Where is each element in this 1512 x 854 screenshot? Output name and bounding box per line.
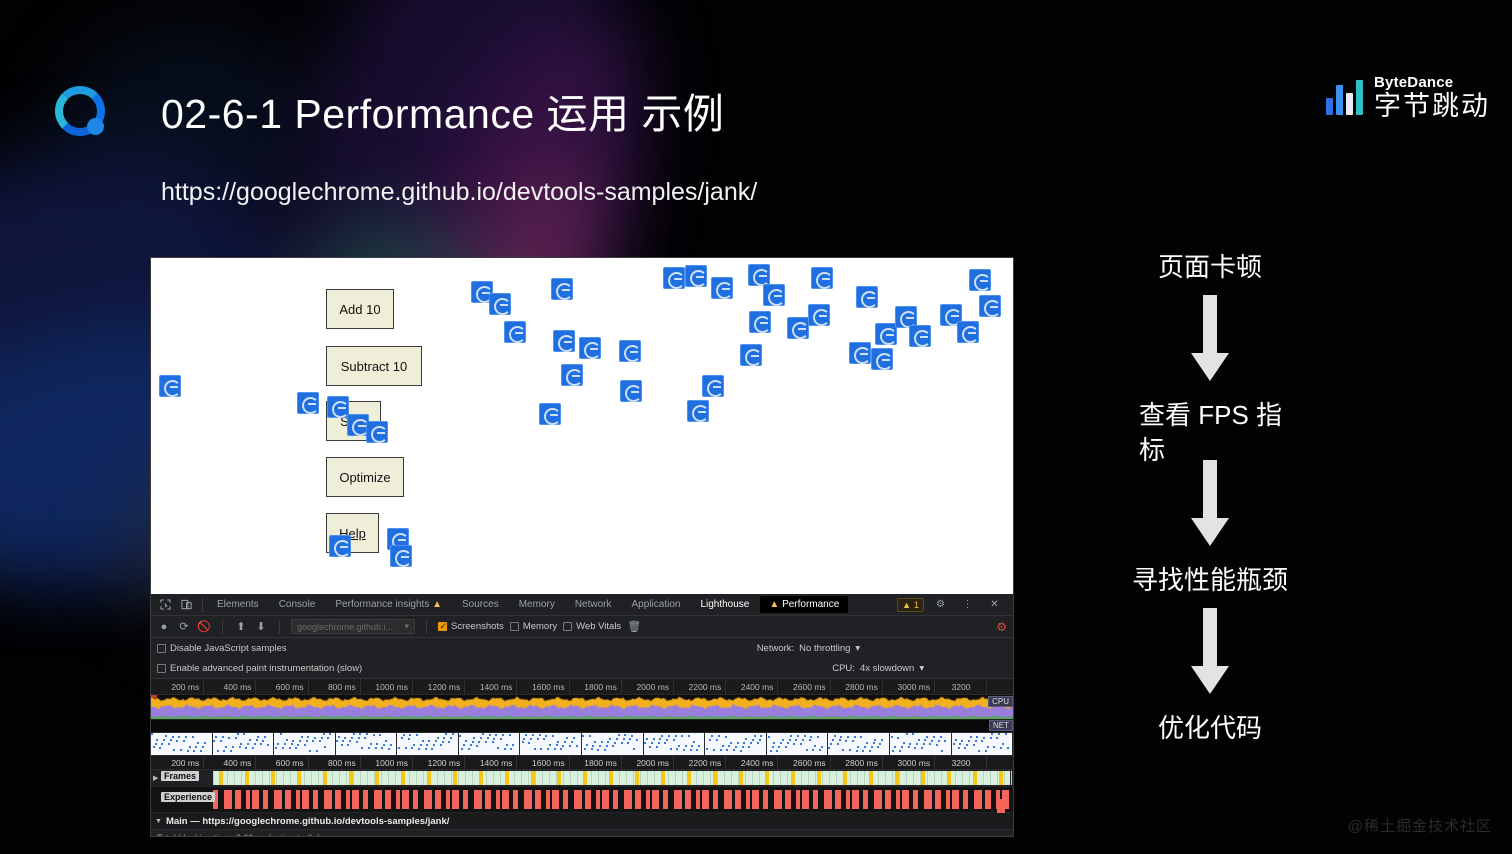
- filmstrip-frame[interactable]: [213, 733, 275, 755]
- chevron-down-icon: ▾: [919, 663, 924, 674]
- experience-bar[interactable]: [224, 790, 232, 809]
- tab-network[interactable]: Network: [566, 596, 621, 613]
- frames-track[interactable]: ▶ Frames: [151, 770, 1013, 787]
- experience-bar[interactable]: [885, 790, 891, 809]
- experience-bar[interactable]: [602, 790, 609, 809]
- experience-bar[interactable]: [696, 790, 700, 809]
- experience-bar[interactable]: [624, 790, 632, 809]
- chrome-square-icon: [366, 421, 388, 443]
- chrome-square-icon: [297, 392, 319, 414]
- experience-bar[interactable]: [674, 790, 682, 809]
- experience-bar[interactable]: [763, 790, 768, 809]
- trash-icon[interactable]: 🗑: [627, 620, 641, 633]
- chrome-square-icon: [579, 337, 601, 359]
- experience-bar[interactable]: [496, 790, 500, 809]
- flow-node-1: 页面卡顿: [1100, 250, 1320, 285]
- experience-bar[interactable]: [652, 790, 659, 809]
- chrome-square-icon: [979, 295, 1001, 317]
- tab-performance-insights[interactable]: Performance insights ▲: [326, 596, 451, 613]
- time-tick-label: 2800 ms: [845, 758, 878, 768]
- experience-bar[interactable]: [352, 790, 359, 809]
- performance-toolbar: ● ⟳ 🚫 ⬆ ⬇ googlechrome.github.i... ▾ Scr…: [151, 616, 1013, 638]
- experience-bar[interactable]: [802, 790, 809, 809]
- record-icon[interactable]: ●: [157, 621, 171, 633]
- experience-bar[interactable]: [296, 790, 300, 809]
- experience-bar[interactable]: [635, 790, 641, 809]
- filmstrip-frame[interactable]: [520, 733, 582, 755]
- experience-bar[interactable]: [463, 790, 468, 809]
- tab-label: Network: [575, 599, 612, 610]
- experience-bar[interactable]: [724, 790, 732, 809]
- chrome-square-icon: [969, 269, 991, 291]
- tab-performance[interactable]: ▲ Performance: [760, 596, 848, 613]
- experience-bar[interactable]: [774, 790, 782, 809]
- warning-badge[interactable]: ▲ 1: [897, 598, 924, 612]
- experience-bar[interactable]: [735, 790, 741, 809]
- time-tick-label: 1800 ms: [584, 758, 617, 768]
- filmstrip-frame[interactable]: [274, 733, 336, 755]
- experience-bar[interactable]: [835, 790, 841, 809]
- cpu-throttle-value[interactable]: 4x slowdown: [860, 663, 914, 674]
- flow-node-2: 查看 FPS 指标: [1115, 398, 1305, 468]
- down-arrow-icon: [1188, 295, 1232, 388]
- overview-time-ruler: 200 ms400 ms600 ms800 ms1000 ms1200 ms14…: [151, 679, 1013, 695]
- frames-track-label: Frames: [161, 771, 199, 781]
- experience-bar[interactable]: [852, 790, 859, 809]
- jank-demo-page: Add 10Subtract 10StopOptimizeHelp: [151, 258, 1013, 594]
- demo-button-label: Subtract 10: [341, 359, 408, 374]
- demo-button-label: Optimize: [339, 470, 390, 485]
- paint-instrumentation-checkbox[interactable]: Enable advanced paint instrumentation (s…: [157, 663, 362, 674]
- warning-triangle-icon: ▲: [429, 599, 442, 610]
- brand-circle-logo-icon: [55, 86, 105, 136]
- chrome-square-icon: [620, 380, 642, 402]
- tab-label: Console: [279, 599, 316, 610]
- experience-bar[interactable]: [413, 790, 418, 809]
- option-row: Enable advanced paint instrumentation (s…: [151, 658, 1013, 678]
- learn-more-link[interactable]: Learn more: [317, 833, 363, 837]
- close-icon[interactable]: ✕: [986, 596, 1003, 613]
- experience-bar[interactable]: [896, 790, 900, 809]
- collapse-triangle-icon[interactable]: ▼: [155, 818, 162, 825]
- filmstrip-frame[interactable]: [582, 733, 644, 755]
- time-tick-label: 200 ms: [171, 682, 199, 692]
- checkbox-box: [438, 622, 447, 631]
- disable-js-samples-label: Disable JavaScript samples: [170, 643, 287, 654]
- network-throttle-label: Network:: [757, 643, 794, 654]
- devtools-status-footer: Total blocking time: 3.09ms (estimated) …: [151, 830, 1013, 837]
- down-arrow-icon: [1188, 460, 1232, 553]
- time-tick-label: 400 ms: [224, 682, 252, 692]
- experience-bar[interactable]: [646, 790, 650, 809]
- timeline-time-ruler: 200 ms400 ms600 ms800 ms1000 ms1200 ms14…: [151, 756, 1013, 770]
- filmstrip-frame[interactable]: [151, 733, 213, 755]
- chevron-down-icon: ▾: [855, 643, 860, 654]
- experience-bar[interactable]: [285, 790, 291, 809]
- filmstrip-frame[interactable]: [828, 733, 890, 755]
- time-tick-label: 1200 ms: [428, 758, 461, 768]
- experience-bar[interactable]: [863, 790, 868, 809]
- experience-bar[interactable]: [846, 790, 850, 809]
- time-tick-label: 600 ms: [276, 758, 304, 768]
- main-track-header[interactable]: ▼ Main — https://googlechrome.github.io/…: [151, 813, 1013, 830]
- experience-bar[interactable]: [813, 790, 818, 809]
- main-track-label: Main — https://googlechrome.github.io/de…: [166, 816, 449, 827]
- experience-bar[interactable]: [324, 790, 332, 809]
- filmstrip-frame[interactable]: [644, 733, 706, 755]
- flow-node-4: 优化代码: [1100, 711, 1320, 746]
- workflow-diagram: 页面卡顿 查看 FPS 指标 寻找性能瓶颈 优化代码: [1060, 250, 1360, 746]
- gear-icon[interactable]: ⚙: [932, 596, 949, 613]
- bytedance-cn-label: 字节跳动: [1374, 93, 1490, 120]
- watermark: @稀土掘金技术社区: [1348, 815, 1492, 836]
- demo-button-optimize[interactable]: Optimize: [326, 457, 404, 497]
- down-arrow-icon: [1188, 608, 1232, 701]
- reload-icon[interactable]: ⟳: [177, 620, 191, 633]
- tab-label: Elements: [217, 599, 259, 610]
- experience-bar[interactable]: [374, 790, 382, 809]
- time-tick-label: 1400 ms: [480, 758, 513, 768]
- chrome-square-icon: [909, 325, 931, 347]
- network-throttle-value[interactable]: No throttling: [799, 643, 850, 654]
- tab-sources[interactable]: Sources: [453, 596, 508, 613]
- experience-bar[interactable]: [246, 790, 250, 809]
- web-vitals-checkbox[interactable]: Web Vitals: [563, 621, 621, 632]
- chrome-square-icon: [561, 364, 583, 386]
- filmstrip-frame[interactable]: [952, 733, 1014, 755]
- time-tick-label: 1800 ms: [584, 682, 617, 692]
- capture-settings-icon[interactable]: ⚙: [996, 620, 1007, 634]
- time-tick-label: 2600 ms: [793, 758, 826, 768]
- demo-button-subtract-10[interactable]: Subtract 10: [326, 346, 422, 386]
- filmstrip-frame[interactable]: [767, 733, 829, 755]
- experience-bar[interactable]: [524, 790, 532, 809]
- tab-application[interactable]: Application: [623, 596, 690, 613]
- experience-bar[interactable]: [485, 790, 491, 809]
- time-tick-label: 2000 ms: [636, 682, 669, 692]
- time-tick-label: 2200 ms: [689, 682, 722, 692]
- chrome-square-icon: [740, 344, 762, 366]
- experience-bar[interactable]: [985, 790, 991, 809]
- chrome-square-icon: [808, 304, 830, 326]
- memory-label: Memory: [523, 621, 557, 632]
- device-toolbar-icon[interactable]: [178, 596, 195, 613]
- time-tick-label: 2600 ms: [793, 682, 826, 692]
- chrome-square-icon: [553, 330, 575, 352]
- experience-bar[interactable]: [585, 790, 591, 809]
- experience-bar[interactable]: [452, 790, 459, 809]
- experience-bar[interactable]: [424, 790, 432, 809]
- slide-root: 02-6-1 Performance 运用 示例 https://googlec…: [0, 0, 1512, 854]
- experience-bar[interactable]: [313, 790, 318, 809]
- tab-console[interactable]: Console: [270, 596, 325, 613]
- time-tick-label: 400 ms: [224, 758, 252, 768]
- experience-bar[interactable]: [346, 790, 350, 809]
- tab-label: Lighthouse: [700, 599, 749, 610]
- experience-bar[interactable]: [563, 790, 568, 809]
- experience-bar[interactable]: [402, 790, 409, 809]
- tab-label: Sources: [462, 599, 499, 610]
- experience-bar[interactable]: [263, 790, 268, 809]
- checkbox-box: [510, 622, 519, 631]
- experience-bar[interactable]: [746, 790, 750, 809]
- chrome-square-icon: [871, 348, 893, 370]
- chrome-square-icon: [702, 375, 724, 397]
- flow-node-3: 寻找性能瓶颈: [1100, 563, 1320, 598]
- time-tick-label: 1600 ms: [532, 682, 565, 692]
- experience-bar[interactable]: [796, 790, 800, 809]
- filmstrip-frame[interactable]: [705, 733, 767, 755]
- time-tick-label: 200 ms: [171, 758, 199, 768]
- more-vertical-icon[interactable]: ⋮: [959, 596, 976, 613]
- chrome-square-icon: [687, 400, 709, 422]
- chrome-square-icon: [504, 321, 526, 343]
- tab-label: Performance: [782, 599, 839, 610]
- time-tick-label: 3000 ms: [897, 758, 930, 768]
- screenshots-checkbox[interactable]: Screenshots: [438, 621, 504, 632]
- experience-bar[interactable]: [913, 790, 918, 809]
- experience-bar[interactable]: [952, 790, 959, 809]
- experience-bar[interactable]: [574, 790, 582, 809]
- experience-bar[interactable]: [552, 790, 559, 809]
- cpu-overview-chart[interactable]: CPU: [151, 695, 1013, 719]
- devtools-window: ElementsConsolePerformance insights ▲Sou…: [151, 594, 1013, 837]
- chrome-square-icon: [489, 293, 511, 315]
- experience-bar[interactable]: [502, 790, 509, 809]
- time-tick-label: 3000 ms: [897, 682, 930, 692]
- time-tick-label: 2000 ms: [636, 758, 669, 768]
- experience-bar[interactable]: [613, 790, 618, 809]
- chrome-square-icon: [390, 545, 412, 567]
- experience-bar[interactable]: [446, 790, 450, 809]
- capture-settings-panel: Disable JavaScript samples Network: No t…: [151, 638, 1013, 679]
- experience-bar[interactable]: [335, 790, 341, 809]
- cpu-throttle-label: CPU:: [832, 663, 855, 674]
- time-tick-label: 800 ms: [328, 758, 356, 768]
- experience-bar[interactable]: [824, 790, 832, 809]
- experience-bar[interactable]: [685, 790, 691, 809]
- experience-bar[interactable]: [535, 790, 541, 809]
- recording-select[interactable]: googlechrome.github.i... ▾: [291, 619, 415, 634]
- clear-icon[interactable]: 🚫: [197, 620, 211, 633]
- experience-bar[interactable]: [396, 790, 400, 809]
- chrome-square-icon: [619, 340, 641, 362]
- time-tick-label: 1600 ms: [532, 758, 565, 768]
- chrome-square-icon: [749, 311, 771, 333]
- chrome-square-icon: [663, 267, 685, 289]
- warning-triangle-icon: ▲: [902, 600, 911, 610]
- experience-bar[interactable]: [474, 790, 482, 809]
- net-label: NET: [989, 720, 1013, 731]
- download-icon[interactable]: ⬇: [254, 620, 268, 633]
- experience-bar[interactable]: [963, 790, 968, 809]
- experience-bar[interactable]: [513, 790, 518, 809]
- chrome-square-icon: [748, 264, 770, 286]
- chrome-square-icon: [849, 342, 871, 364]
- experience-bar[interactable]: [663, 790, 668, 809]
- experience-bar[interactable]: [752, 790, 759, 809]
- time-tick-label: 800 ms: [328, 682, 356, 692]
- total-blocking-time-text: Total blocking time: 3.09ms (estimated): [157, 833, 313, 837]
- demo-button-add-10[interactable]: Add 10: [326, 289, 394, 329]
- page-title: 02-6-1 Performance 运用 示例: [161, 80, 724, 140]
- bytedance-logo: ByteDance 字节跳动: [1326, 74, 1490, 120]
- experience-bar[interactable]: [596, 790, 600, 809]
- chrome-square-icon: [957, 321, 979, 343]
- tab-label: Application: [632, 599, 681, 610]
- experience-bar[interactable]: [935, 790, 941, 809]
- experience-bar[interactable]: [385, 790, 391, 809]
- warning-count: 1: [914, 600, 919, 610]
- net-overview-chart[interactable]: NET: [151, 719, 1013, 732]
- recording-select-value: googlechrome.github.i...: [297, 622, 393, 632]
- bytedance-bars-icon: [1326, 80, 1363, 115]
- experience-bar[interactable]: [546, 790, 550, 809]
- time-tick-label: 2400 ms: [741, 758, 774, 768]
- tab-label: Memory: [519, 599, 555, 610]
- cpu-label: CPU: [988, 696, 1013, 707]
- time-tick-label: 1000 ms: [375, 758, 408, 768]
- chrome-square-icon: [811, 267, 833, 289]
- chrome-square-icon: [159, 375, 181, 397]
- screenshots-label: Screenshots: [451, 621, 504, 632]
- screenshot-filmstrip[interactable]: [151, 732, 1013, 756]
- time-tick-label: 1000 ms: [375, 682, 408, 692]
- chrome-square-icon: [551, 278, 573, 300]
- experience-bar[interactable]: [235, 790, 241, 809]
- experience-track[interactable]: Experience: [151, 787, 1013, 813]
- upload-icon[interactable]: ⬆: [234, 620, 248, 633]
- experience-bar[interactable]: [435, 790, 441, 809]
- experience-bar[interactable]: [274, 790, 282, 809]
- time-tick-label: 2400 ms: [741, 682, 774, 692]
- experience-bar[interactable]: [997, 799, 1005, 813]
- chrome-square-icon: [856, 286, 878, 308]
- tab-lighthouse[interactable]: Lighthouse: [691, 596, 758, 613]
- experience-bar[interactable]: [785, 790, 791, 809]
- experience-bar[interactable]: [302, 790, 309, 809]
- experience-bar[interactable]: [946, 790, 950, 809]
- time-tick-label: 2200 ms: [689, 758, 722, 768]
- experience-bar[interactable]: [363, 790, 368, 809]
- time-tick-label: 1200 ms: [428, 682, 461, 692]
- filmstrip-frame[interactable]: [397, 733, 459, 755]
- experience-bar[interactable]: [702, 790, 709, 809]
- experience-bar[interactable]: [874, 790, 882, 809]
- time-tick-label: 1400 ms: [480, 682, 513, 692]
- chrome-square-icon: [685, 265, 707, 287]
- chrome-square-icon: [327, 396, 349, 418]
- tab-elements[interactable]: Elements: [208, 596, 268, 613]
- chrome-square-icon: [787, 317, 809, 339]
- expand-triangle-icon[interactable]: ▶: [153, 774, 158, 782]
- bytedance-en-label: ByteDance: [1374, 74, 1490, 91]
- tab-memory[interactable]: Memory: [510, 596, 564, 613]
- chrome-square-icon: [329, 535, 351, 557]
- chrome-square-icon: [763, 284, 785, 306]
- experience-bar[interactable]: [974, 790, 982, 809]
- demo-url-text: https://googlechrome.github.io/devtools-…: [161, 178, 757, 207]
- time-tick-label: 2800 ms: [845, 682, 878, 692]
- chrome-square-icon: [875, 323, 897, 345]
- disable-js-samples-checkbox[interactable]: Disable JavaScript samples: [157, 643, 287, 654]
- devtools-screenshot-panel: Add 10Subtract 10StopOptimizeHelp Elemen…: [150, 257, 1014, 837]
- chevron-down-icon: ▾: [404, 621, 409, 632]
- warning-triangle-icon: ▲: [769, 599, 782, 610]
- checkbox-box: [157, 664, 166, 673]
- filmstrip-frame[interactable]: [336, 733, 398, 755]
- tab-label: Performance insights: [335, 599, 429, 610]
- experience-bar[interactable]: [902, 790, 909, 809]
- filmstrip-frame[interactable]: [459, 733, 521, 755]
- experience-bar[interactable]: [252, 790, 259, 809]
- demo-button-label: Add 10: [339, 302, 380, 317]
- web-vitals-label: Web Vitals: [576, 621, 621, 632]
- experience-bar[interactable]: [713, 790, 718, 809]
- chrome-square-icon: [539, 403, 561, 425]
- experience-bar[interactable]: [924, 790, 932, 809]
- filmstrip-frame[interactable]: [890, 733, 952, 755]
- devtools-tabbar: ElementsConsolePerformance insights ▲Sou…: [151, 594, 1013, 616]
- chrome-square-icon: [711, 277, 733, 299]
- checkbox-box: [563, 622, 572, 631]
- experience-track-label: Experience: [161, 792, 215, 802]
- memory-checkbox[interactable]: Memory: [510, 621, 557, 632]
- time-tick-label: 600 ms: [276, 682, 304, 692]
- inspect-icon[interactable]: [157, 596, 174, 613]
- checkbox-box: [157, 644, 166, 653]
- option-row: Disable JavaScript samples Network: No t…: [151, 638, 1013, 658]
- paint-instrumentation-label: Enable advanced paint instrumentation (s…: [170, 663, 362, 674]
